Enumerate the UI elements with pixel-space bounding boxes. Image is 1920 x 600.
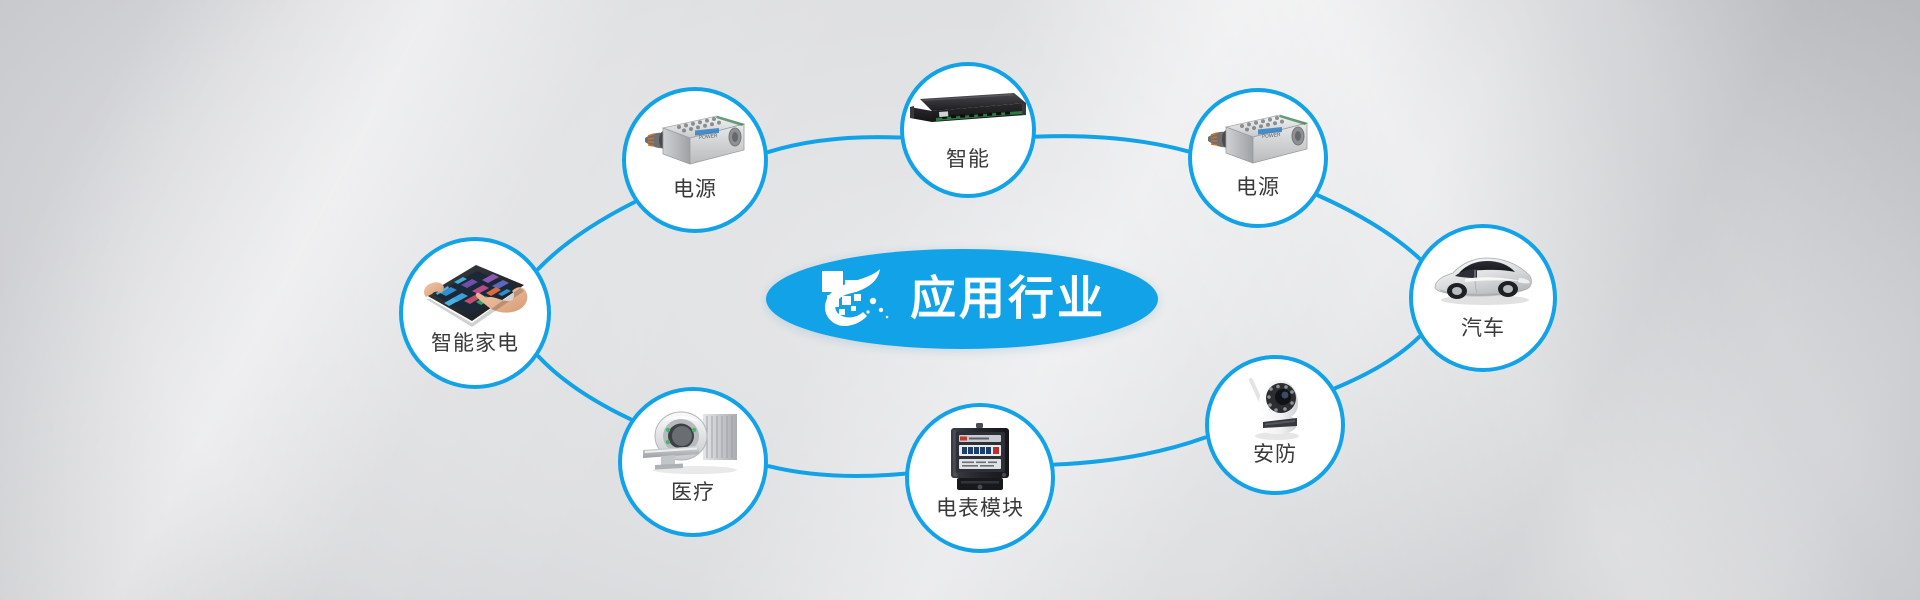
connector-power-supply-right-to-automobile [1318,196,1419,259]
node-label: 电表模块 [909,492,1051,522]
node-security[interactable]: 安防 [1205,355,1345,495]
center-badge: 应用行业 [766,249,1158,349]
application-industries-banner: POWER 电源 [0,0,1920,600]
node-label: 智能家电 [403,327,547,357]
node-label: 医疗 [622,476,764,506]
node-meter-module[interactable]: 电表模块 [905,403,1055,553]
psu-icon: POWER [626,110,764,168]
node-medical[interactable]: 医疗 [618,387,768,537]
node-power-supply-right[interactable]: POWER 电源 [1188,88,1328,228]
connector-smart-to-power-supply-right [1037,136,1188,151]
connector-power-supply-left-to-smart [769,137,900,152]
psu-icon: POWER [1192,110,1324,166]
node-label: 电源 [1192,171,1324,201]
node-smart-home[interactable]: 智能家电 [399,237,551,389]
ip-camera-icon [1209,377,1341,433]
rack-server-icon [904,84,1032,138]
node-automobile[interactable]: 汽车 [1409,224,1557,372]
car-icon [1413,247,1553,306]
badge-label: 应用行业 [910,275,1106,321]
tablet-hand-icon [403,261,547,322]
node-label: 安防 [1209,438,1341,468]
connector-automobile-to-security [1336,337,1419,388]
electric-meter-icon [909,427,1051,487]
node-label: 智能 [904,143,1032,173]
connector-security-to-meter-module [1055,438,1205,465]
connector-smart-home-to-power-supply-left [538,202,634,269]
node-label: 电源 [626,173,764,203]
node-label: 汽车 [1413,312,1553,342]
connector-meter-module-to-medical [769,466,904,476]
mri-scanner-icon [622,411,764,471]
orbit-pixel-logo-icon [818,267,894,329]
node-smart[interactable]: 智能 [900,62,1036,198]
connector-medical-to-smart-home [539,356,631,419]
node-power-supply-left[interactable]: POWER 电源 [622,87,768,233]
